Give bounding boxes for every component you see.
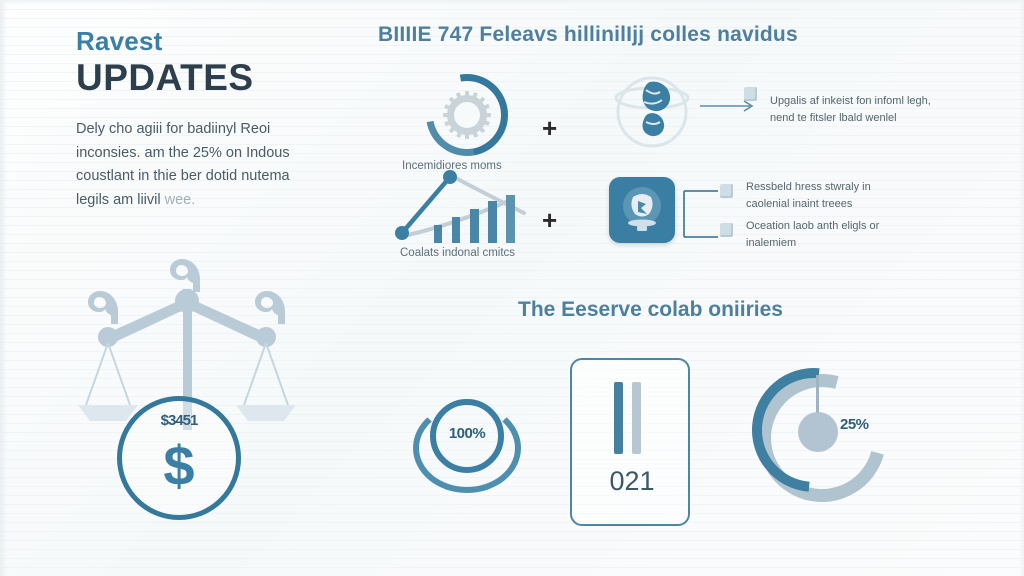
body-line-2: inconsies. am the 25% on Indous <box>76 145 290 161</box>
flow-row-2-bracket <box>682 179 744 256</box>
annotation-line-1: Upgalis af inkeist fon infoml legh, <box>770 95 931 107</box>
ring-gauge-widget: 25% <box>744 362 924 522</box>
left-header-block: Ravest UPDATES Dely cho agiii for badiin… <box>76 28 346 212</box>
canvas-left-edge <box>0 0 7 576</box>
annotation-line-1: Oceation laob anth eligls or <box>746 220 879 232</box>
body-paragraph: Dely cho agiii for badiinyl Reoi inconsi… <box>76 118 328 212</box>
flow-row-2-chip-icon-a <box>720 184 733 198</box>
flow-row-2-chip-icon-b <box>720 223 733 237</box>
page-title: UPDATES <box>76 59 346 96</box>
gauge-value-label: 25% <box>840 416 869 433</box>
flow-row-2-annotation-2: Oceation laob anth eligls or inalemiem <box>746 218 926 251</box>
annotation-line-2: caolenial inaint treees <box>746 198 852 210</box>
annotation-line-1: Ressbeld hress stwraly in <box>746 181 871 193</box>
eyebrow-text: Ravest <box>76 28 346 55</box>
flow-row-1-connector: + <box>542 115 557 141</box>
progress-donut-widget: 100% <box>408 393 526 497</box>
flow-row-2-connector: + <box>542 207 557 233</box>
card-bar-secondary <box>632 382 641 454</box>
gear-in-arc-icon <box>426 74 508 156</box>
globe-outline-icon <box>610 68 694 152</box>
canvas-top-edge <box>0 0 1024 5</box>
annotation-line-2: nend te fitsler lbald wenlel <box>770 112 897 124</box>
gauge-center-knob <box>798 412 838 452</box>
canvas-right-edge <box>1019 0 1024 576</box>
flow-section-title: BIIIIE 747 Feleavs hillinilIjj colles na… <box>378 23 798 47</box>
flow-row-2-annotation-1: Ressbeld hress stwraly in caolenial inai… <box>746 179 926 212</box>
infographic-canvas: Ravest UPDATES Dely cho agiii for badiin… <box>0 0 1024 576</box>
annotation-line-2: inalemiem <box>746 237 796 249</box>
body-line-3: coustlant in thie ber dotid nutema <box>76 168 290 184</box>
flow-row-2-caption: Coalats indonal cmitcs <box>400 247 515 259</box>
flow-row-1-annotation: Upgalis af inkeist fon infoml legh, nend… <box>770 93 950 126</box>
bottom-section-title: The Eeserve colab oniiries <box>518 298 783 322</box>
dollar-amount-label: $3451 <box>117 412 241 429</box>
currency-icon: $ <box>117 438 241 494</box>
donut-value-label: 100% <box>430 425 504 442</box>
blue-tile-globe-icon <box>609 177 675 243</box>
flow-row-1-chip-icon <box>744 87 757 101</box>
body-line-4: legils am liivil <box>76 192 161 208</box>
flow-row-1: Incemidiores moms + Upgalis af inkeist f… <box>382 60 1002 165</box>
body-line-1: Dely cho agiii for badiinyl Reoi <box>76 121 270 137</box>
card-bar-primary <box>614 382 623 454</box>
bar-card-widget: 021 <box>570 358 690 526</box>
dollar-badge: $3451 $ <box>117 396 257 514</box>
flow-row-2: Coalats indonal cmitcs + Ressbeld hress … <box>382 165 1002 275</box>
card-number-label: 021 <box>572 466 692 497</box>
body-line-4-faded: wee. <box>165 192 196 208</box>
gear-ring-icon <box>443 91 491 139</box>
bar-line-chart-icon <box>388 169 538 250</box>
